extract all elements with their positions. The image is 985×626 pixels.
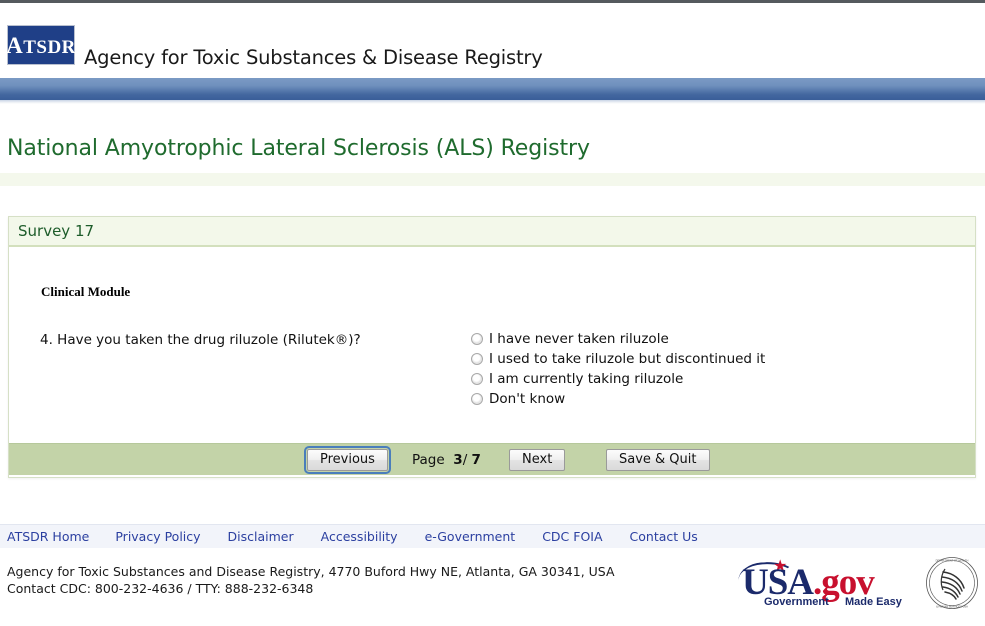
survey-panel: Survey 17 Clinical Module 4. Have you ta… — [8, 216, 976, 478]
footer-link-atsdr-home[interactable]: ATSDR Home — [7, 529, 89, 544]
question-text: 4. Have you taken the drug riluzole (Ril… — [40, 332, 361, 348]
survey-panel-title: Survey 17 — [18, 222, 94, 240]
footer-link-accessibility[interactable]: Accessibility — [321, 529, 398, 544]
header-blue-band — [0, 78, 985, 100]
page-indicator: Page 3/ 7 — [412, 452, 481, 468]
header-blue-band-shadow — [0, 100, 985, 104]
option-label[interactable]: I am currently taking riluzole — [489, 371, 683, 387]
footer-contact-line: Contact CDC: 800-232-4636 / TTY: 888-232… — [7, 580, 615, 597]
radio-button-icon[interactable] — [471, 333, 483, 345]
previous-button[interactable]: Previous — [307, 449, 388, 471]
atsdr-logo-text: ATSDR — [6, 34, 76, 57]
option-row[interactable]: I have never taken riluzole — [471, 330, 765, 349]
svg-text:DEPARTMENT OF HEALTH: DEPARTMENT OF HEALTH — [936, 559, 969, 563]
option-row[interactable]: I used to take riluzole but discontinued… — [471, 350, 765, 369]
usagov-logo[interactable]: ★ USA.gov Government Made Easy — [742, 556, 922, 612]
hhs-seal-icon: DEPARTMENT OF HEALTH & HUMAN SERVICES US… — [925, 556, 979, 610]
survey-panel-body: Clinical Module 4. Have you taken the dr… — [9, 247, 975, 443]
survey-panel-header: Survey 17 — [9, 217, 975, 247]
option-label[interactable]: Don't know — [489, 391, 565, 407]
save-and-quit-button[interactable]: Save & Quit — [606, 449, 710, 471]
footer-agency-info: Agency for Toxic Substances and Disease … — [7, 563, 615, 597]
footer-link-privacy-policy[interactable]: Privacy Policy — [115, 529, 200, 544]
option-label[interactable]: I used to take riluzole but discontinued… — [489, 351, 765, 367]
atsdr-logo[interactable]: ATSDR — [7, 25, 75, 65]
footer-link-disclaimer[interactable]: Disclaimer — [228, 529, 294, 544]
footer-link-bar: ATSDR Home Privacy Policy Disclaimer Acc… — [0, 524, 985, 548]
radio-button-icon[interactable] — [471, 393, 483, 405]
next-button[interactable]: Next — [509, 449, 565, 471]
page-separator: / — [463, 452, 468, 468]
usagov-tagline-right: Made Easy — [845, 596, 902, 608]
footer-link-contact-us[interactable]: Contact Us — [630, 529, 698, 544]
page-current: 3 — [453, 452, 462, 468]
survey-navigation-bar: Previous Page 3/ 7 Next Save & Quit — [9, 443, 975, 475]
module-title: Clinical Module — [41, 284, 130, 300]
option-row[interactable]: I am currently taking riluzole — [471, 370, 765, 389]
page-total: 7 — [472, 452, 481, 468]
page-title: National Amyotrophic Lateral Sclerosis (… — [7, 136, 590, 161]
option-row[interactable]: Don't know — [471, 390, 765, 409]
footer-link-cdc-foia[interactable]: CDC FOIA — [542, 529, 602, 544]
svg-text:& HUMAN SERVICES USA: & HUMAN SERVICES USA — [936, 604, 968, 608]
footer-link-e-government[interactable]: e-Government — [425, 529, 516, 544]
site-header: ATSDR Agency for Toxic Substances & Dise… — [0, 3, 985, 78]
option-label[interactable]: I have never taken riluzole — [489, 331, 669, 347]
answer-options-group: I have never taken riluzole I used to ta… — [471, 330, 765, 410]
radio-button-icon[interactable] — [471, 353, 483, 365]
radio-button-icon[interactable] — [471, 373, 483, 385]
footer-address-line: Agency for Toxic Substances and Disease … — [7, 563, 615, 580]
title-divider — [0, 173, 985, 186]
page-word: Page — [412, 452, 445, 468]
agency-name: Agency for Toxic Substances & Disease Re… — [84, 46, 543, 69]
usagov-tagline-left: Government — [764, 596, 829, 608]
